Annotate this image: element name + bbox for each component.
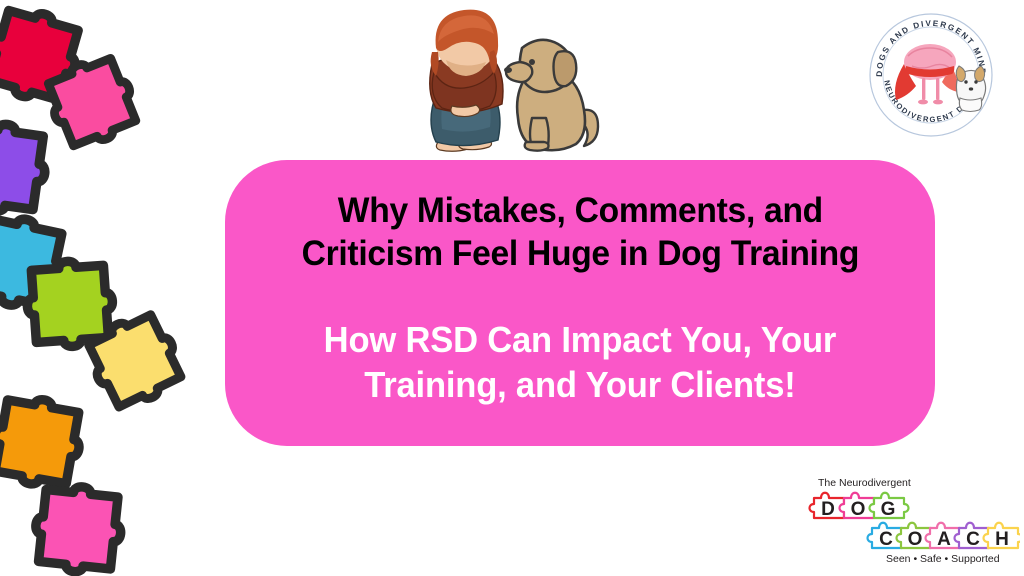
- logo-letter-c2: C: [966, 529, 980, 550]
- headline-card: Why Mistakes, Comments, and Criticism Fe…: [225, 160, 935, 446]
- logo-letter-c1: C: [879, 529, 893, 550]
- logo-letter-o2: O: [908, 529, 923, 550]
- person-figure: [430, 10, 503, 152]
- circular-brand-badge: #DOGS AND DIVERGENT MINDS THE NEURODIVER…: [868, 12, 994, 138]
- puzzle-piece-orange: [0, 392, 86, 491]
- brand-logo: The Neurodivergent D O G: [804, 474, 1020, 568]
- headline-title: Why Mistakes, Comments, and Criticism Fe…: [301, 190, 858, 275]
- logo-letter-d: D: [821, 499, 835, 520]
- puzzle-piece-purple: [0, 118, 51, 216]
- logo-letter-h: H: [995, 529, 1009, 550]
- brand-logo-tagline: Seen • Safe • Supported: [886, 553, 1000, 565]
- dog-figure: [504, 40, 598, 151]
- puzzle-chain-decoration: [0, 0, 212, 576]
- badge-dog-icon: [956, 66, 985, 112]
- brand-logo-top-text: The Neurodivergent: [818, 477, 911, 489]
- brand-logo-word-dog: D O G: [810, 493, 909, 520]
- slide-canvas: #DOGS AND DIVERGENT MINDS THE NEURODIVER…: [0, 0, 1024, 576]
- headline-subtitle: How RSD Can Impact You, Your Training, a…: [324, 317, 836, 407]
- logo-letter-o1: O: [851, 499, 866, 520]
- logo-letter-g: G: [881, 499, 896, 520]
- puzzle-piece-magenta: [31, 482, 125, 576]
- logo-letter-a: A: [937, 529, 951, 550]
- sad-person-with-dog-illustration: [408, 2, 618, 162]
- brand-logo-word-coach: C O A C H: [868, 523, 1021, 550]
